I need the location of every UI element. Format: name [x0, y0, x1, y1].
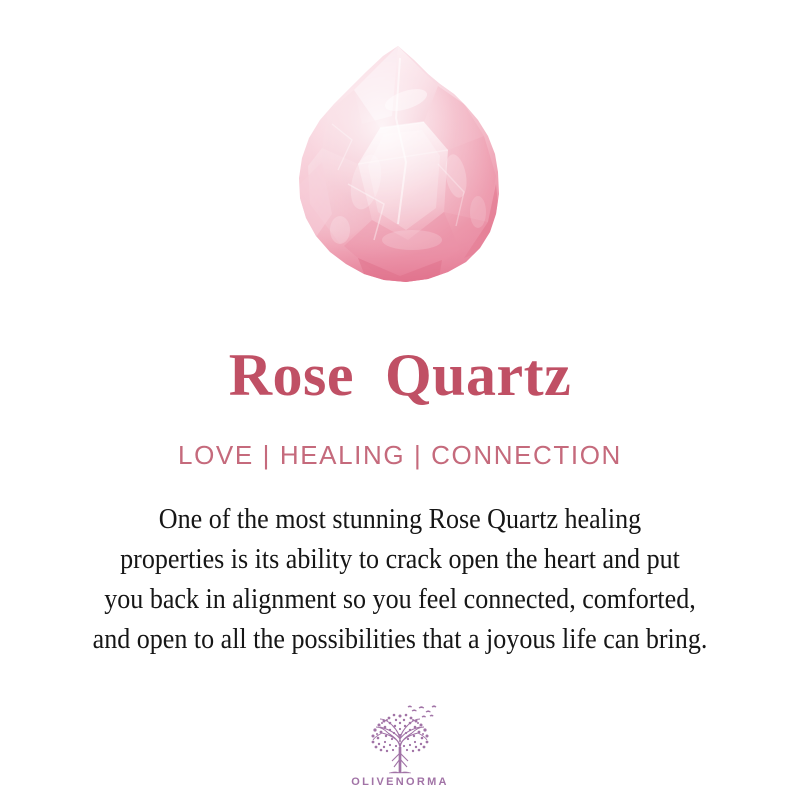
description-line: properties is its ability to crack open …: [47, 540, 754, 580]
keyword-subtitle: LOVE | HEALING | CONNECTION: [178, 441, 622, 470]
brand-logo: OLIVENORMA: [0, 703, 800, 788]
crystal-body: [288, 44, 512, 286]
product-info-card: Rose Quartz LOVE | HEALING | CONNECTION …: [0, 0, 800, 800]
description-line: and open to all the possibilities that a…: [47, 620, 754, 660]
tree-of-life-icon: [356, 703, 444, 775]
description-line: One of the most stunning Rose Quartz hea…: [47, 500, 754, 540]
product-image-stage: [0, 0, 800, 300]
page-title: Rose Quartz: [229, 344, 572, 407]
brand-wordmark: OLIVENORMA: [351, 776, 449, 788]
description-line: you back in alignment so you feel connec…: [47, 580, 754, 620]
description-block: One of the most stunning Rose Quartz hea…: [20, 500, 780, 660]
rose-quartz-crystal-image: [288, 44, 512, 286]
